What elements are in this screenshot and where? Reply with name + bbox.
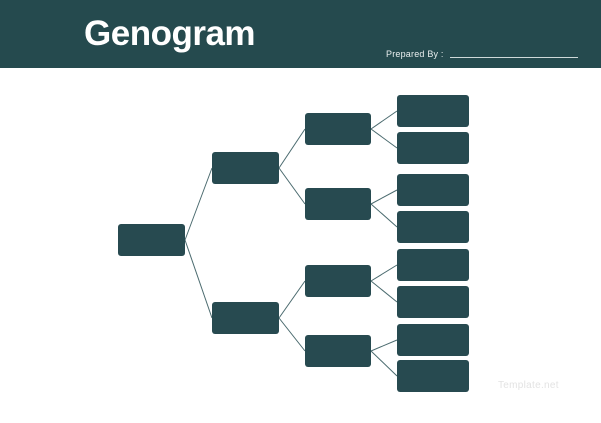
prepared-by-label: Prepared By : <box>386 48 444 60</box>
genogram-node[interactable] <box>305 335 371 367</box>
genogram-node[interactable] <box>397 95 469 127</box>
genogram-node[interactable] <box>397 360 469 392</box>
genogram-node[interactable] <box>397 286 469 318</box>
genogram-node[interactable] <box>397 249 469 281</box>
genogram-node[interactable] <box>397 211 469 243</box>
prepared-by-input-rule[interactable] <box>450 57 578 58</box>
genogram-node[interactable] <box>118 224 185 256</box>
genogram-node[interactable] <box>397 132 469 164</box>
genogram-node[interactable] <box>305 113 371 145</box>
prepared-by-field[interactable]: Prepared By : <box>386 48 578 60</box>
genogram-node[interactable] <box>397 324 469 356</box>
genogram-node[interactable] <box>397 174 469 206</box>
genogram-node[interactable] <box>305 265 371 297</box>
genogram-node[interactable] <box>212 302 279 334</box>
genogram-node[interactable] <box>305 188 371 220</box>
watermark: Template.net <box>498 380 559 391</box>
genogram-template-page: Genogram Prepared By : Template.net <box>0 0 601 423</box>
page-title: Genogram <box>84 13 255 55</box>
diagram-canvas <box>0 68 601 423</box>
genogram-node[interactable] <box>212 152 279 184</box>
header-band: Genogram Prepared By : <box>0 0 601 68</box>
